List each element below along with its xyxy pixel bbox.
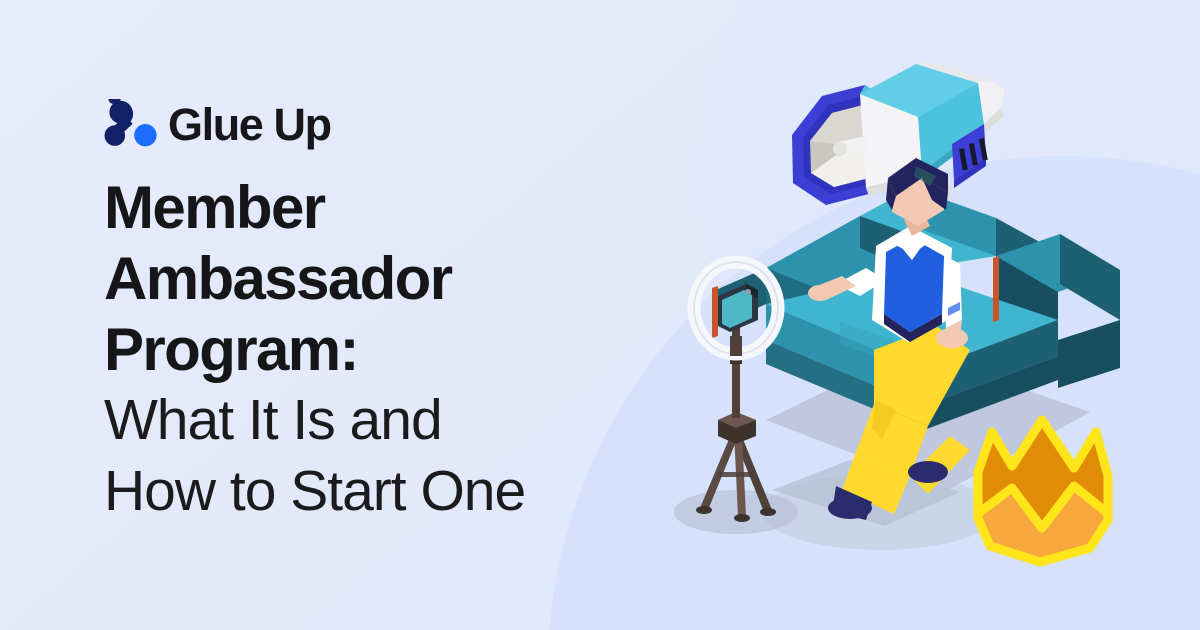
page-title: Member Ambassador Program: [104, 172, 664, 385]
headline-line-3: Program: [104, 314, 664, 385]
illustration-svg [660, 20, 1200, 620]
illustration-ambassador-livestream [660, 20, 1200, 620]
subhead-line-2: How to Start One [104, 456, 664, 527]
brand-logo: Glue Up [104, 96, 664, 152]
social-share-banner: Glue Up Member Ambassador Program: What … [0, 0, 1200, 630]
page-subtitle: What It Is and How to Start One [104, 385, 664, 527]
subhead-line-1: What It Is and [104, 385, 664, 456]
crown-icon [978, 420, 1108, 562]
headline-line-2: Ambassador [104, 243, 664, 314]
headline-line-1: Member [104, 172, 664, 243]
text-column: Glue Up Member Ambassador Program: What … [104, 96, 664, 527]
glueup-molecule-logo-icon [104, 98, 162, 150]
brand-wordmark: Glue Up [168, 102, 331, 147]
